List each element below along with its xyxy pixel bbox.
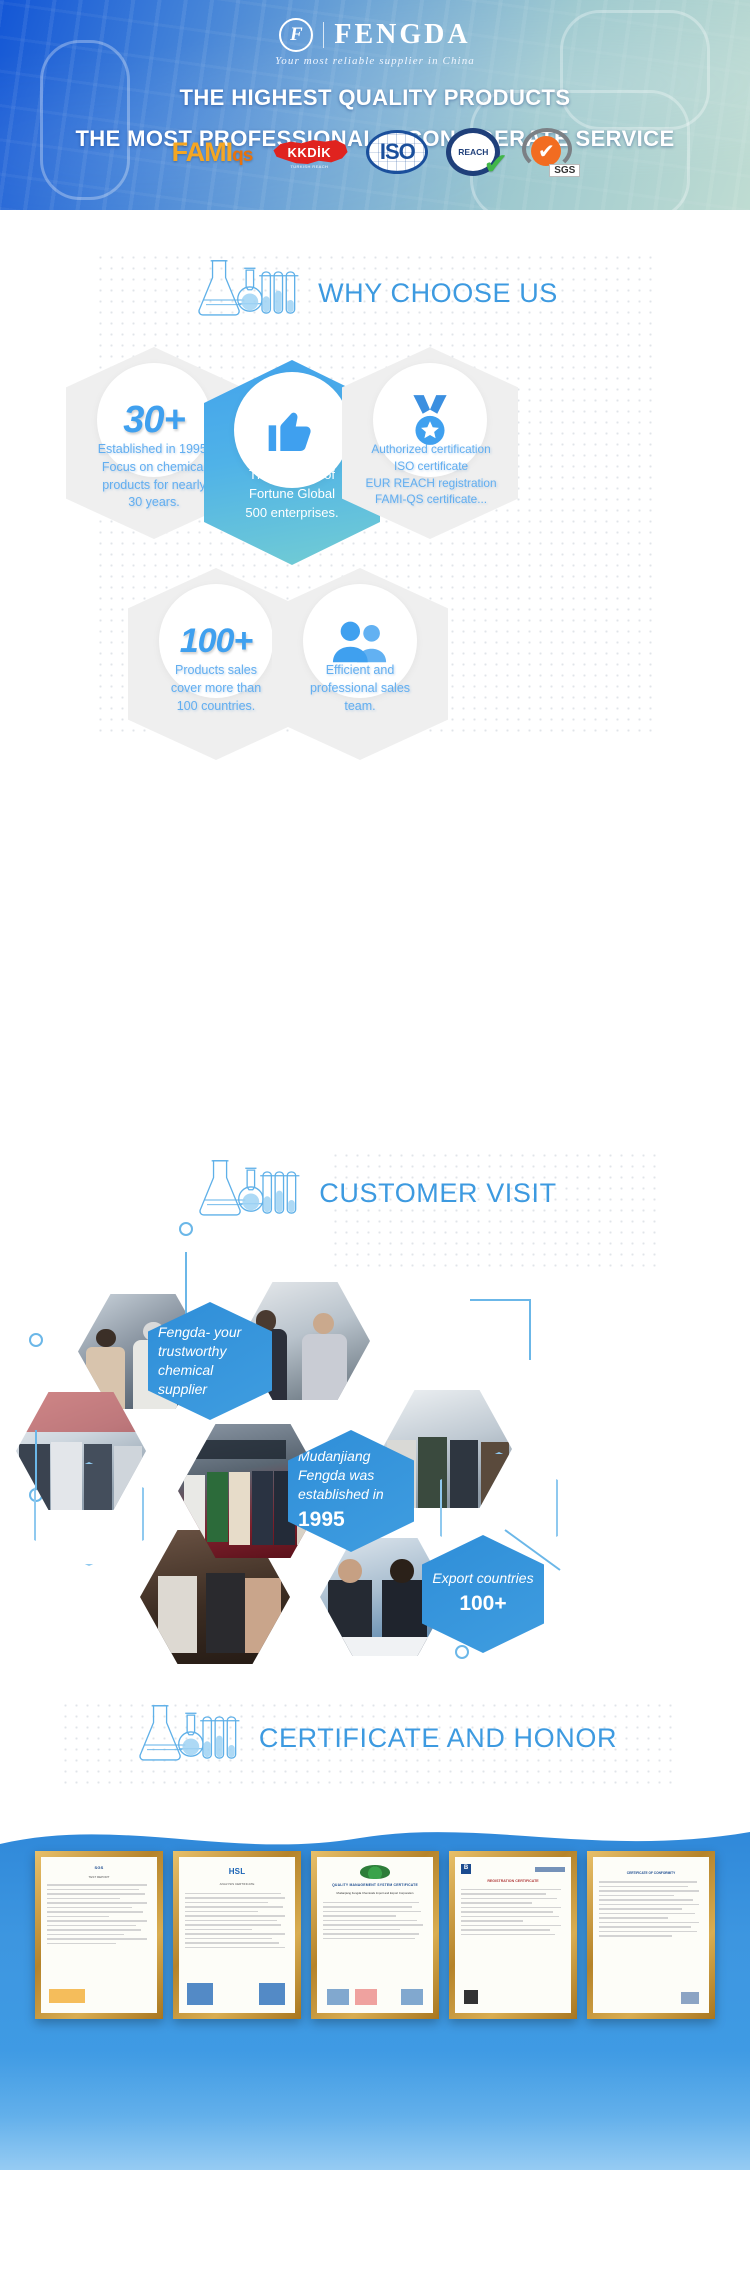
countries-number: 100+	[180, 622, 253, 661]
hero-wave-divider	[0, 188, 750, 210]
fami-qs-badge: FAMIQS	[172, 129, 253, 175]
thumbs-up-icon	[264, 402, 320, 458]
cert-quality-management: QUALITY MANAGEMENT SYSTEM CERTIFICATE Mu…	[317, 1857, 433, 2013]
lab-glassware-icon	[133, 1700, 245, 1762]
iso-badge: ISO	[366, 129, 428, 175]
certification-badge-row: FAMIQS KKDİK TURKISH REACH ISO REACH ✔ ✔…	[0, 128, 750, 176]
brand-name: FENGDA	[334, 19, 470, 51]
cert-body-lines	[185, 1893, 289, 1949]
cert-registration: B REGISTRATION CERTIFICATE	[455, 1857, 571, 2013]
medal-icon	[405, 393, 455, 447]
list-item[interactable]: B REGISTRATION CERTIFICATE	[449, 1851, 577, 2019]
sgs-label: SGS	[549, 164, 580, 177]
fami-qs-label: FAMI	[172, 137, 233, 167]
fengda-monogram-icon: F	[279, 18, 313, 52]
caption-established-year: 1995	[298, 1506, 404, 1534]
years-number: 30+	[123, 399, 184, 442]
kkdik-sublabel: TURKISH REACH	[270, 164, 348, 169]
list-item[interactable]: SGS TEST REPORT	[35, 1851, 163, 2019]
iso-label: ISO	[380, 139, 415, 165]
cert-body-lines	[47, 1884, 151, 1944]
section-title-text: CUSTOMER VISIT	[319, 1178, 556, 1217]
team-card-text: Efficient and professional sales team.	[272, 662, 448, 715]
green-check-icon: ✔	[483, 150, 508, 180]
sgs-badge: ✔ SGS	[518, 128, 578, 176]
list-item[interactable]: QUALITY MANAGEMENT SYSTEM CERTIFICATE Mu…	[311, 1851, 439, 2019]
cert-body-lines	[323, 1902, 427, 1940]
caption-export-count: 100+	[432, 1590, 533, 1618]
people-icon	[331, 617, 389, 665]
iso-globe-icon: ISO	[366, 130, 428, 174]
lab-glassware-icon	[193, 1155, 305, 1217]
caption-established-text: Mudanjiang Fengda was established in	[298, 1448, 384, 1502]
cert-body-lines	[599, 1881, 703, 1937]
certification-card-text: Authorized certification ISO certificate…	[340, 441, 522, 508]
reach-badge: REACH ✔	[446, 128, 500, 176]
section-title-text: WHY CHOOSE US	[318, 278, 558, 317]
certificate-reflection	[0, 2050, 750, 2170]
logo-divider	[323, 22, 324, 48]
cert-hsl: HSL ANALYSIS CERTIFICATE	[179, 1857, 295, 2013]
brand-tagline: Your most reliable supplier in China	[0, 55, 750, 67]
kkdik-label: KKDİK	[288, 145, 332, 160]
certificate-list: SGS TEST REPORT HSL ANALYSIS CERTIFICATE	[0, 1851, 750, 2019]
why-choose-us-header: WHY CHOOSE US	[0, 255, 750, 317]
lab-glassware-icon	[192, 255, 304, 317]
cert-body-lines	[461, 1889, 565, 1936]
cert-sgs: SGS TEST REPORT	[41, 1857, 157, 2013]
hero-headline-1: THE HIGHEST QUALITY PRODUCTS	[0, 85, 750, 111]
list-item[interactable]: CERTIFICATE OF CONFORMITY	[587, 1851, 715, 2019]
list-item[interactable]: HSL ANALYSIS CERTIFICATE	[173, 1851, 301, 2019]
brand-logo: F FENGDA	[0, 18, 750, 52]
hero-banner: F FENGDA Your most reliable supplier in …	[0, 0, 750, 210]
cert-license: CERTIFICATE OF CONFORMITY	[593, 1857, 709, 2013]
customer-visit-header: CUSTOMER VISIT	[0, 1155, 750, 1217]
fami-qs-sublabel: QS	[232, 145, 252, 166]
page-footer	[0, 2170, 750, 2271]
section-title-text: CERTIFICATE AND HONOR	[259, 1723, 617, 1762]
kkdik-badge: KKDİK TURKISH REACH	[270, 130, 348, 174]
certificate-and-honor-header: CERTIFICATE AND HONOR	[0, 1700, 750, 1762]
caption-export-text: Export countries	[432, 1570, 533, 1586]
